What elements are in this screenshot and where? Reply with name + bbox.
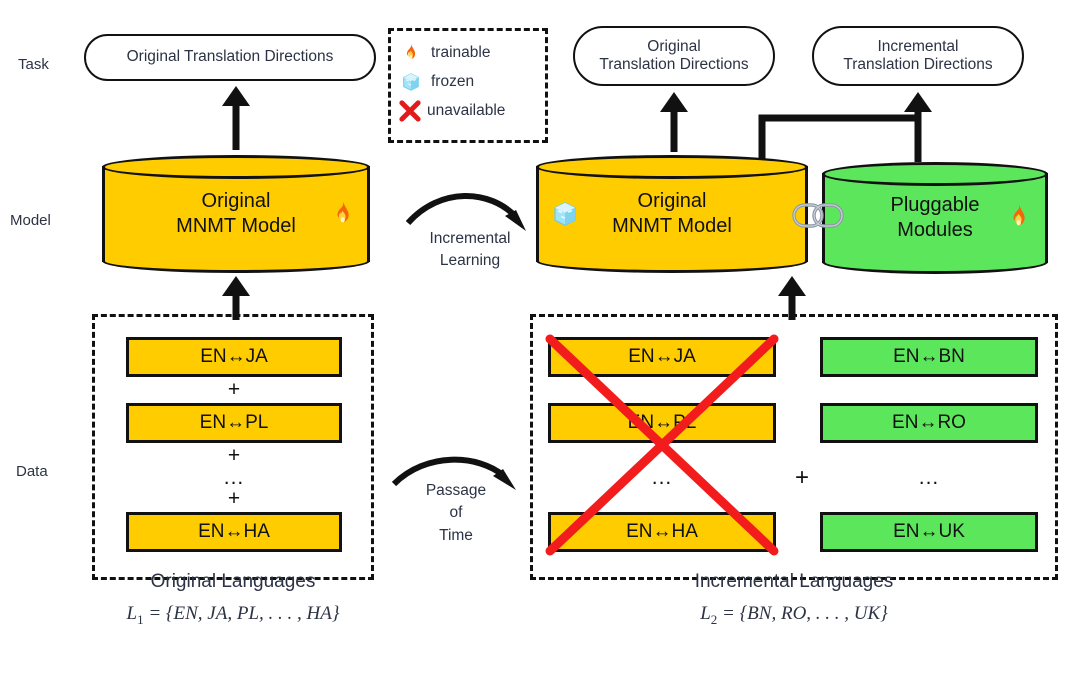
legend-item-unavailable: unavailable (391, 96, 545, 125)
task-pill-original-left[interactable]: Original Translation Directions (84, 34, 376, 81)
ice-cube-icon (400, 71, 422, 93)
data-join-plus: + (782, 464, 822, 492)
data-chip-right-new-1-label: EN↔RO (892, 412, 966, 434)
task-pill-original-mid[interactable]: Original Translation Directions (573, 26, 775, 86)
arrow-modules-to-task-right (900, 90, 936, 152)
diagram-canvas: Task Model Data Original Translation Dir… (0, 0, 1080, 697)
model-cylinder-original-mid[interactable]: Original MNMT Model (536, 155, 808, 273)
task-pill-right-line2: Translation Directions (843, 56, 992, 74)
data-ellipsis-right-old: ... (548, 466, 776, 490)
data-chip-right-new-0[interactable]: EN↔BN (820, 337, 1038, 377)
passage-of-time-line1: Passage (392, 480, 520, 502)
formula-left-lhs: L (127, 603, 138, 624)
row-label-data: Data (16, 463, 48, 480)
formula-right-lhs: L (700, 603, 711, 624)
data-chip-right-old-1-label: EN↔PL (628, 412, 697, 434)
red-cross-icon (397, 98, 423, 124)
formula-right-rhs: = {BN, RO, . . . , UK} (717, 603, 888, 624)
data-chip-right-old-0[interactable]: EN↔JA (548, 337, 776, 377)
data-plus-left-1: + (126, 444, 342, 468)
model-cylinder-pluggable-modules[interactable]: Pluggable Modules (822, 162, 1048, 274)
data-chip-right-old-2[interactable]: EN↔HA (548, 512, 776, 552)
legend-label-frozen: frozen (431, 73, 474, 91)
legend-label-unavailable: unavailable (427, 102, 505, 120)
caption-original-languages: Original Languages (92, 571, 374, 593)
data-chip-left-1[interactable]: EN↔PL (126, 403, 342, 443)
task-pill-incremental-right[interactable]: Incremental Translation Directions (812, 26, 1024, 86)
passage-of-time-line3: Time (392, 525, 520, 547)
task-pill-mid-line2: Translation Directions (599, 56, 748, 74)
caption-incremental-languages: Incremental Languages (530, 571, 1058, 593)
data-plus-left-2: + (126, 487, 342, 511)
task-pill-left-text: Original Translation Directions (127, 48, 334, 66)
data-chip-right-new-1[interactable]: EN↔RO (820, 403, 1038, 443)
row-label-task: Task (18, 56, 49, 73)
fire-icon (328, 199, 358, 229)
task-pill-mid-line1: Original (647, 38, 700, 56)
data-chip-right-new-0-label: EN↔BN (893, 346, 965, 368)
label-passage-of-time: Passage of Time (392, 480, 520, 547)
data-chip-left-2-label: EN↔HA (198, 521, 270, 543)
arrow-model-mid-to-task-mid (656, 90, 692, 152)
legend-item-frozen: frozen (391, 67, 545, 96)
incremental-learning-line1: Incremental (404, 228, 536, 250)
formula-incremental-languages: L2 = {BN, RO, . . . , UK} (530, 603, 1058, 628)
model-cylinder-original-left[interactable]: Original MNMT Model (102, 155, 370, 273)
data-plus-left-0: + (126, 378, 342, 402)
label-incremental-learning: Incremental Learning (404, 228, 536, 273)
data-chip-left-2[interactable]: EN↔HA (126, 512, 342, 552)
incremental-learning-line2: Learning (404, 250, 536, 272)
ice-cube-icon (550, 199, 580, 229)
data-chip-right-new-2-label: EN↔UK (893, 521, 965, 543)
passage-of-time-line2: of (392, 502, 520, 524)
legend-item-trainable: trainable (391, 38, 545, 67)
data-chip-left-0-label: EN↔JA (200, 346, 268, 368)
fire-icon (400, 42, 422, 64)
fire-icon (1004, 202, 1034, 232)
data-chip-left-0[interactable]: EN↔JA (126, 337, 342, 377)
legend-box: trainable frozen unavailable (388, 28, 548, 143)
chain-link-icon (790, 198, 848, 234)
data-ellipsis-right-new: ... (820, 466, 1038, 490)
task-pill-right-line1: Incremental (878, 38, 959, 56)
row-label-model: Model (10, 212, 51, 229)
formula-original-languages: L1 = {EN, JA, PL, . . . , HA} (92, 603, 374, 628)
data-chip-right-old-2-label: EN↔HA (626, 521, 698, 543)
data-chip-right-new-2[interactable]: EN↔UK (820, 512, 1038, 552)
formula-left-rhs: = {EN, JA, PL, . . . , HA} (144, 603, 340, 624)
data-chip-left-1-label: EN↔PL (200, 412, 269, 434)
data-chip-right-old-1[interactable]: EN↔PL (548, 403, 776, 443)
legend-label-trainable: trainable (431, 44, 490, 62)
arrow-model-left-to-task-left (218, 84, 254, 150)
data-chip-right-old-0-label: EN↔JA (628, 346, 696, 368)
